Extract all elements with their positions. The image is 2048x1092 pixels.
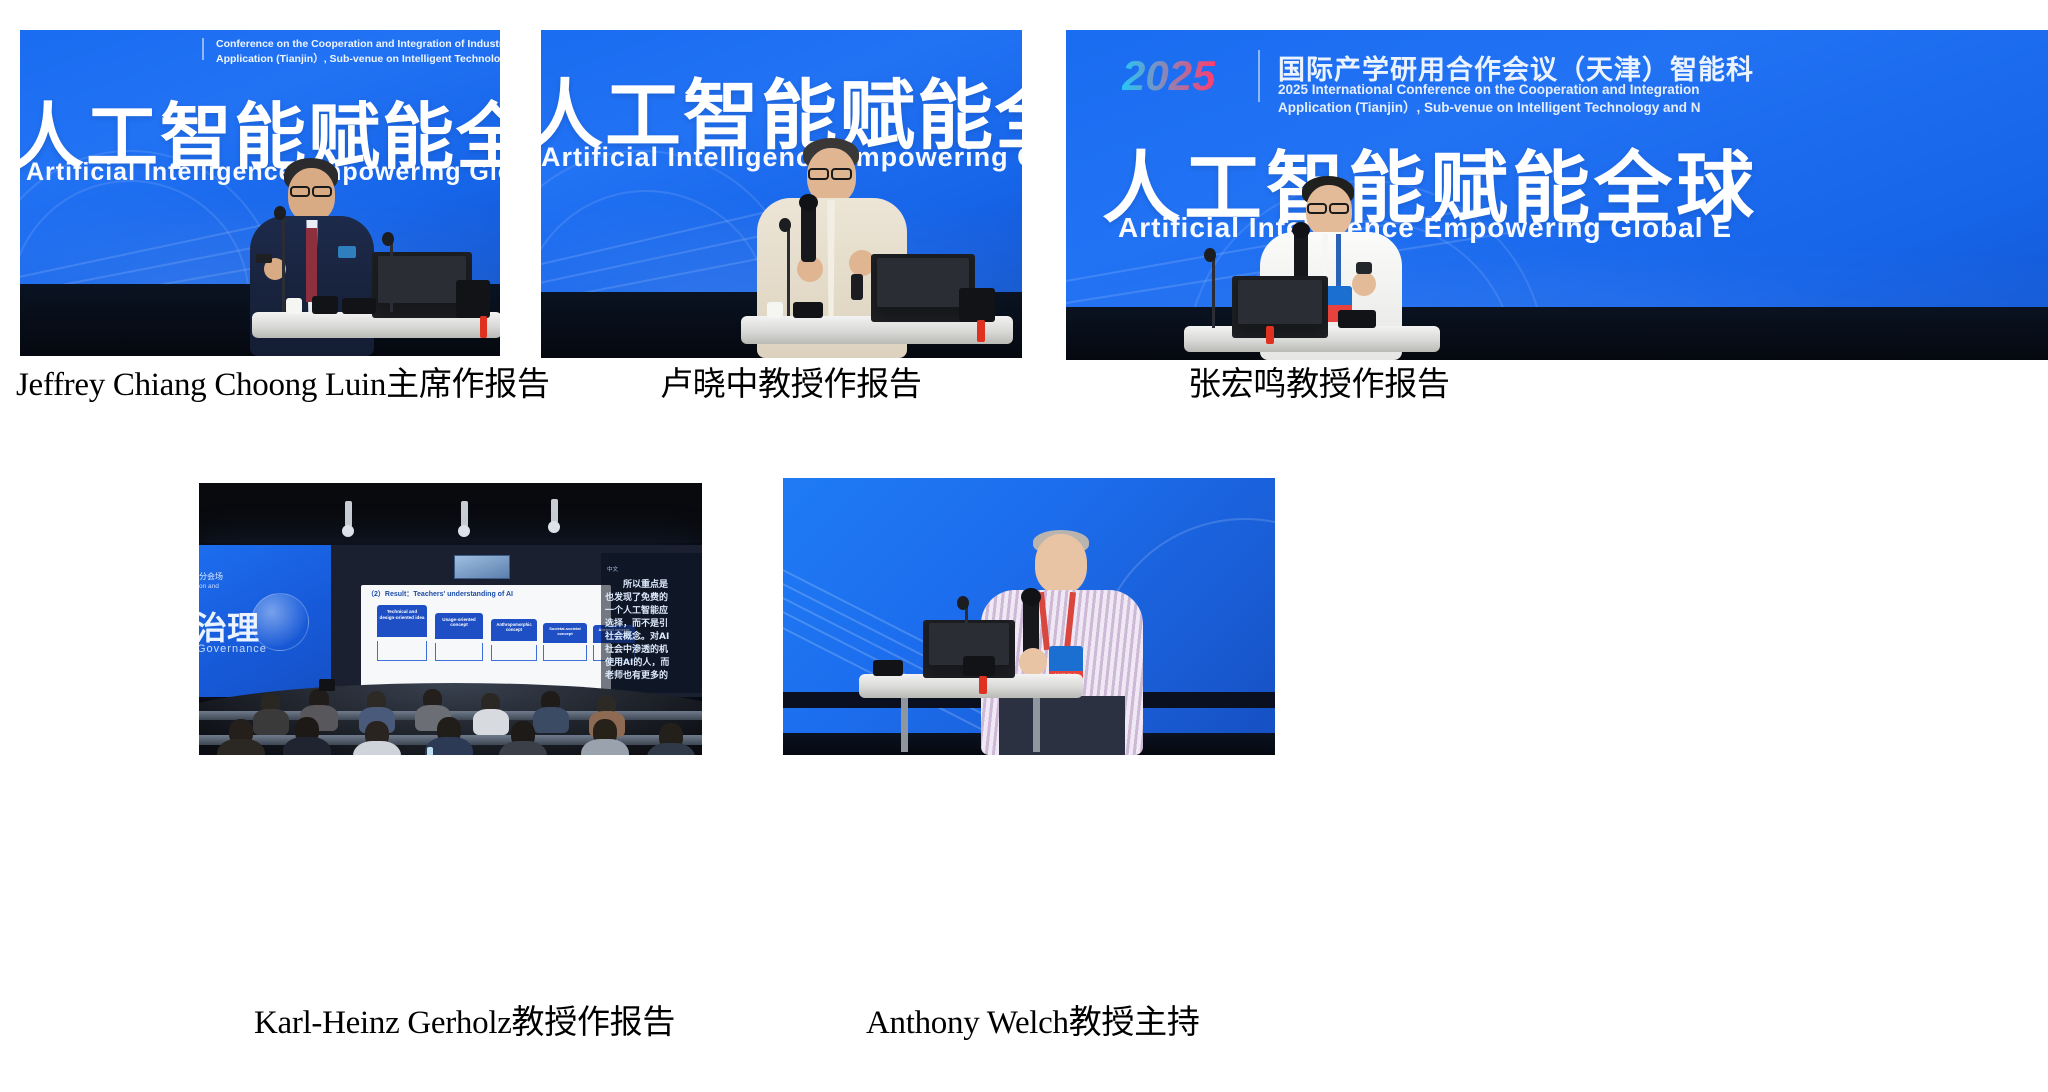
logo-2025: 2025 bbox=[1122, 52, 1215, 100]
slide-title: （2）Result：Teachers' understanding of AI bbox=[367, 589, 513, 599]
slide-card: Societal-societal concept bbox=[543, 623, 587, 643]
caption-line: 选择，而不是引 bbox=[605, 616, 668, 629]
slide: （2）Result：Teachers' understanding of AI … bbox=[361, 585, 611, 693]
lanyard bbox=[1336, 234, 1341, 290]
caption-line: 使用AI的人，而 bbox=[605, 655, 669, 668]
photo-lu-xiaozhong: 人工智能赋能全球 Artificial Intelligence Empower… bbox=[541, 30, 1022, 358]
caption-zhang-hongming: 张宏鸣教授作报告 bbox=[1188, 367, 1450, 403]
left-panel-en: Governance bbox=[199, 643, 267, 655]
poster-page: Conference on the Cooperation and Integr… bbox=[0, 0, 2048, 1092]
slide-card-label: Usage-oriented concept bbox=[435, 617, 483, 628]
photo-jeffrey-chiang: Conference on the Cooperation and Integr… bbox=[20, 30, 500, 356]
banner-en-top-line1: Application (Tianjin）, Sub-venue on Inte… bbox=[216, 52, 500, 66]
slide-card: Usage-oriented concept bbox=[435, 613, 483, 639]
left-panel-small-en: on and bbox=[199, 583, 219, 590]
laptop bbox=[1232, 276, 1328, 338]
caption-panel: 中文 所以重点是 也发现了免费的 一个人工智能应 选择，而不是引 社会概念。对A… bbox=[601, 553, 702, 693]
caption-line: 所以重点是 bbox=[623, 577, 668, 590]
caption-line: 社会概念。对AI bbox=[605, 629, 669, 642]
slide-card: Anthropomorphic concept bbox=[491, 619, 537, 641]
slide-card-label: Anthropomorphic concept bbox=[491, 622, 537, 633]
caption-line: 老师也有更多的 bbox=[605, 668, 668, 681]
banner-en-header-line2: Application (Tianjin）, Sub-venue on Inte… bbox=[1278, 98, 1701, 118]
photo-anthony-welch: 特邀嘉宾 SPECIAL GUEST bbox=[783, 478, 1275, 755]
presentation-screen: 分会场 on and 治理 Governance （2）Result：Teach… bbox=[199, 545, 702, 697]
banner-en-top-line2: Conference on the Cooperation and Integr… bbox=[216, 37, 500, 51]
slide-card: Technical and design-oriented idea bbox=[377, 605, 427, 637]
caption-karl-heinz-gerholz: Karl-Heinz Gerholz教授作报告 bbox=[254, 1005, 675, 1041]
caption-panel-label: 中文 bbox=[607, 565, 618, 573]
caption-line: 一个人工智能应 bbox=[605, 603, 668, 616]
left-panel-small-cn: 分会场 bbox=[199, 571, 223, 582]
caption-lu-xiaozhong: 卢晓中教授作报告 bbox=[660, 367, 922, 403]
screen-left-panel: 分会场 on and 治理 Governance bbox=[199, 545, 331, 697]
banner-en-title: Artificial Intelligence Empowering Globa… bbox=[1118, 212, 1732, 244]
picture-in-picture-video bbox=[454, 555, 510, 579]
caption-line: 社会中渗透的机 bbox=[605, 642, 668, 655]
caption-jeffrey-chiang: Jeffrey Chiang Choong Luin主席作报告 bbox=[16, 367, 550, 403]
caption-line: 也发现了免费的 bbox=[605, 590, 668, 603]
slide-card-label: Societal-societal concept bbox=[543, 626, 587, 636]
photo-karl-heinz-gerholz: 分会场 on and 治理 Governance （2）Result：Teach… bbox=[199, 483, 702, 755]
photo-zhang-hongming: 2025 国际产学研用合作会议（天津）智能科 2025 Internationa… bbox=[1066, 30, 2048, 360]
slide-card-label: Technical and design-oriented idea bbox=[377, 609, 427, 620]
caption-anthony-welch: Anthony Welch教授主持 bbox=[866, 1005, 1200, 1041]
